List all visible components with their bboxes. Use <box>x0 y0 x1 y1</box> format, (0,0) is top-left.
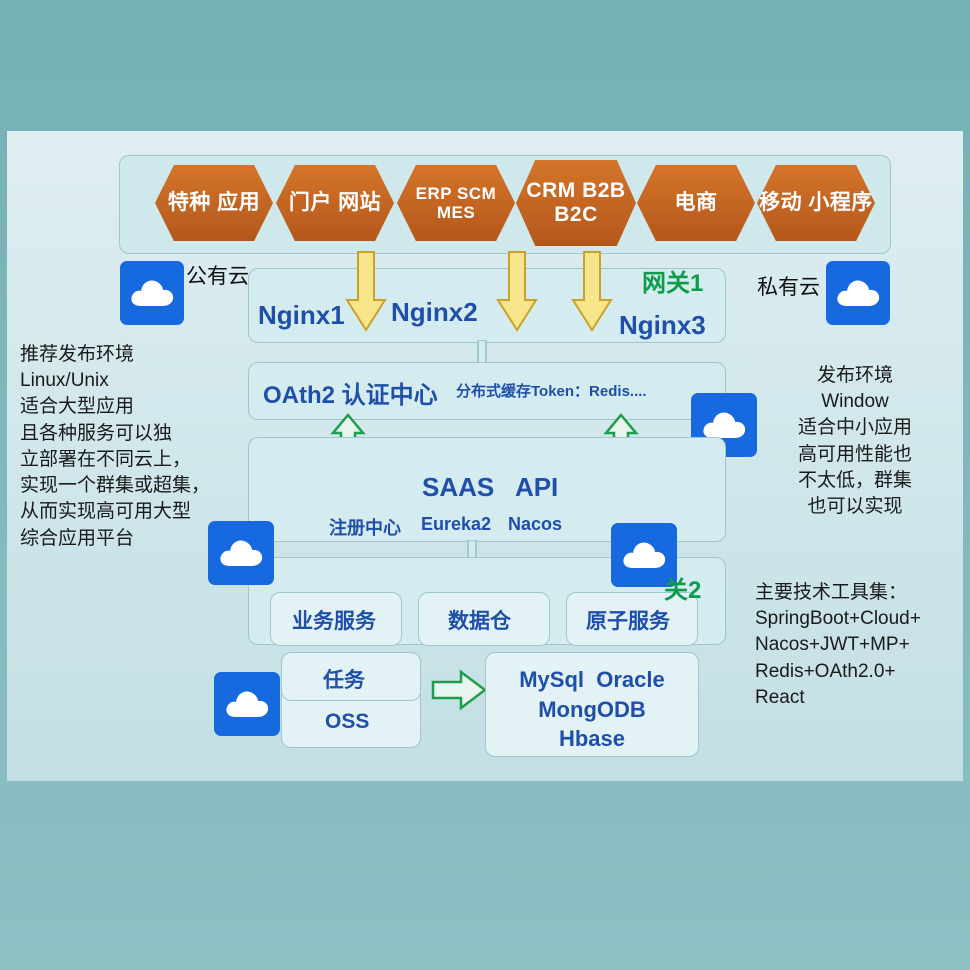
cloud-icon-bottom-left <box>214 672 280 736</box>
app-portal[interactable]: 门户 网站 <box>276 165 394 241</box>
service-business-label: 业务服务 <box>292 605 376 635</box>
nacos-label: Nacos <box>508 514 562 535</box>
cloud-glyph <box>835 277 881 309</box>
app-crm[interactable]: CRM B2B B2C <box>516 160 636 246</box>
cloud-label-private: 私有云 <box>757 271 820 301</box>
app-mobile[interactable]: 移动 小程序 <box>757 165 875 241</box>
cloud-icon-public <box>120 261 184 325</box>
arrow-right-db <box>431 668 487 717</box>
left-note: 推荐发布环境 Linux/Unix 适合大型应用 且各种服务可以独 立部署在不同… <box>20 342 235 552</box>
database-label: MySql Oracle MongODB Hbase <box>508 665 676 754</box>
right-note-environment: 发布环境 Window 适合中小应用 高可用性能也 不太低，群集 也可以实现 <box>755 363 955 520</box>
nginx3-label[interactable]: Nginx3 <box>619 310 706 341</box>
arrow-down-2 <box>495 250 539 339</box>
diagram-root: 特种 应用 门户 网站 ERP SCM MES CRM B2B B2C 电商 移… <box>0 0 970 970</box>
gateway-label-1: 网关1 <box>642 263 703 298</box>
service-atomic-label: 原子服务 <box>586 605 670 635</box>
nginx1-label[interactable]: Nginx1 <box>258 300 345 331</box>
app-special[interactable]: 特种 应用 <box>155 165 273 241</box>
cloud-glyph <box>621 539 667 571</box>
arrow-down-3 <box>570 250 614 339</box>
app-erp[interactable]: ERP SCM MES <box>397 165 515 241</box>
gateway-label-2: 关2 <box>664 570 701 605</box>
box-task-label: 任务 <box>323 664 365 694</box>
arrow-down-1 <box>344 250 388 339</box>
service-datawarehouse-label: 数据仓 <box>448 605 511 635</box>
registry-label: 注册中心 <box>329 514 401 540</box>
app-ecom[interactable]: 电商 <box>637 165 755 241</box>
cloud-label-public: 公有云 <box>186 260 249 290</box>
cloud-glyph <box>224 688 270 720</box>
box-oss-label: OSS <box>325 710 369 734</box>
auth-cache-label: 分布式缓存Token：Redis.... <box>456 380 647 401</box>
right-note-techstack: 主要技术工具集： SpringBoot+Cloud+ Nacos+JWT+MP+… <box>755 580 965 711</box>
auth-title[interactable]: OAth2 认证中心 <box>263 375 438 410</box>
nginx2-label[interactable]: Nginx2 <box>391 297 478 328</box>
cloud-icon-private <box>826 261 890 325</box>
cloud-glyph <box>129 277 175 309</box>
saas-title[interactable]: SAAS API <box>422 472 558 503</box>
eureka-label: Eureka2 <box>421 514 491 535</box>
